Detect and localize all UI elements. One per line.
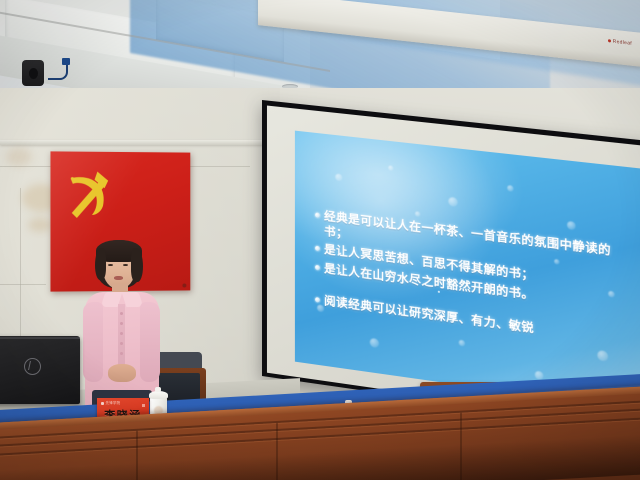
dell-monitor[interactable] [0, 336, 80, 404]
presenter-arm-left [83, 302, 103, 382]
presenter-button [120, 332, 123, 335]
presenter-hair-side-right [131, 248, 143, 282]
presenter-button [120, 312, 123, 315]
bullet-dot-icon [315, 264, 320, 270]
presenter-mouth [114, 276, 123, 280]
nameplate-corner-mark [142, 404, 145, 407]
presenter-hands [108, 364, 136, 382]
presenter-button [120, 342, 123, 345]
presentation-slide: 经典是可以让人在一杯茶、一首音乐的氛围中静读的书； 是让人冥思苦想、百思不得其解… [295, 131, 640, 411]
mug-left-knob [155, 387, 161, 392]
flag-mount-dot [182, 283, 186, 287]
bullet-dot-icon [315, 212, 320, 218]
conference-room-photo: Redleaf [0, 0, 640, 480]
presenter-eye-left [108, 264, 113, 266]
bullet-dot-icon [315, 297, 320, 303]
screen-brand-label: Redleaf [608, 38, 632, 47]
wall-stain [28, 218, 52, 232]
mug-left-lid [149, 391, 168, 399]
presenter-arm-right [140, 302, 160, 382]
monitor-cable-connector [62, 58, 70, 65]
presenter-hair-side-left [95, 248, 106, 280]
bullet-dot-icon [315, 246, 320, 252]
dell-logo-icon [24, 358, 41, 375]
wall-stain [6, 148, 32, 166]
wall-seam [0, 284, 46, 285]
nameplate-org-logo: 先锋学院 [101, 401, 120, 406]
wall-trim [0, 140, 270, 145]
presenter-eye-right [123, 264, 128, 266]
presenter-button [120, 322, 123, 325]
presenter-button [120, 352, 123, 355]
monitor-stand-cutout [29, 68, 38, 79]
monitor-bezel-highlight [0, 337, 80, 339]
slide-stray-period [438, 291, 440, 293]
